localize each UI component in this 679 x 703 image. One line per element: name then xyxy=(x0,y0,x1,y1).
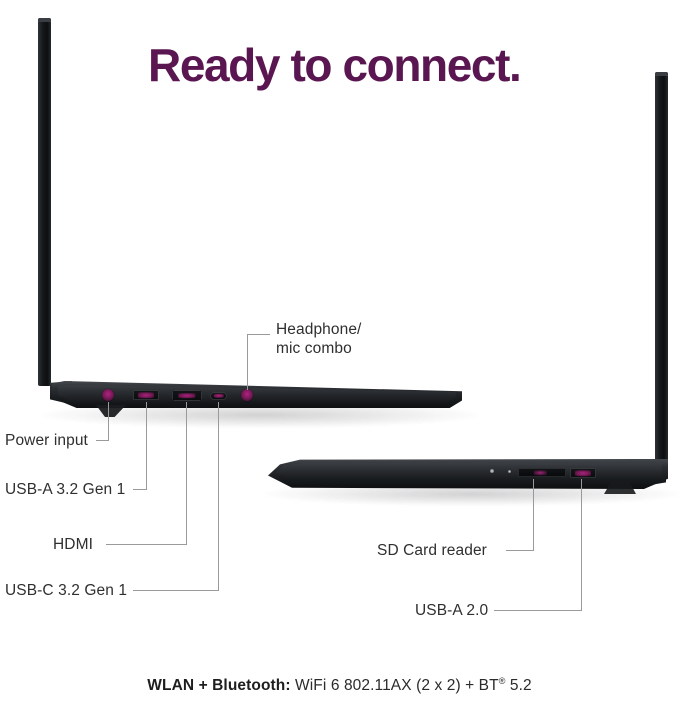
footer-value: WiFi 6 802.11AX (2 x 2) + BT xyxy=(295,677,499,694)
status-led-charge xyxy=(508,470,511,473)
port-usb-a-20-glow xyxy=(575,470,591,476)
port-headphone-mic-combo xyxy=(241,389,253,401)
leader-usb-a-horizontal xyxy=(133,489,147,490)
laptop-left-lid xyxy=(38,18,51,386)
footer-wlan-bluetooth-spec: WLAN + Bluetooth: WiFi 6 802.11AX (2 x 2… xyxy=(0,676,679,695)
label-usb-a-32-gen1: USB-A 3.2 Gen 1 xyxy=(5,481,125,500)
laptop-left-lid-top-edge xyxy=(38,18,51,22)
leader-sd-card-horizontal xyxy=(506,550,534,551)
label-headphone-line2: mic combo xyxy=(276,340,352,357)
label-headphone-mic-combo: Headphone/ mic combo xyxy=(276,321,406,358)
leader-sd-card-vertical xyxy=(533,479,534,550)
port-usb-a-glow xyxy=(138,392,154,398)
port-hdmi xyxy=(172,390,202,401)
label-headphone-line1: Headphone/ xyxy=(276,321,361,338)
label-power-input: Power input xyxy=(5,432,88,451)
port-sd-card-glow xyxy=(534,470,546,475)
page-title: Ready to connect. xyxy=(148,42,520,88)
status-led-power xyxy=(490,469,494,473)
laptop-right-lid xyxy=(655,72,668,468)
label-usb-a-20: USB-A 2.0 xyxy=(415,602,488,621)
port-usb-a-20 xyxy=(570,468,596,478)
leader-usb-c-vertical xyxy=(218,402,219,590)
port-hdmi-glow xyxy=(178,393,195,399)
footer-value-suffix: 5.2 xyxy=(505,677,531,694)
leader-usb-a-20-vertical xyxy=(581,479,582,610)
label-usb-c-32-gen1: USB-C 3.2 Gen 1 xyxy=(5,582,127,601)
leader-hdmi-vertical xyxy=(186,402,187,544)
port-usb-c-glow xyxy=(213,394,224,398)
footer-bold-prefix: WLAN + Bluetooth: xyxy=(147,677,290,694)
leader-headphone-vertical xyxy=(247,334,248,390)
leader-usb-a-vertical xyxy=(146,402,147,489)
leader-hdmi-horizontal xyxy=(106,544,187,545)
port-usb-c-32-gen1 xyxy=(210,392,227,400)
label-hdmi: HDMI xyxy=(53,536,93,555)
laptop-right-base-face xyxy=(276,463,662,481)
leader-usb-c-horizontal xyxy=(133,590,219,591)
infographic-canvas: Ready to connect. Headphone/ mic combo P… xyxy=(0,0,679,703)
port-power-input xyxy=(102,389,114,401)
port-sd-card-reader xyxy=(518,468,566,477)
leader-usb-a-20-horizontal xyxy=(494,610,582,611)
label-sd-card-reader: SD Card reader xyxy=(377,542,487,561)
leader-power-input-horizontal xyxy=(96,440,109,441)
laptop-right-lid-top-edge xyxy=(655,72,668,76)
leader-headphone-horizontal xyxy=(247,334,270,335)
port-usb-a-32-gen1 xyxy=(133,390,159,400)
leader-power-input-vertical xyxy=(108,402,109,440)
